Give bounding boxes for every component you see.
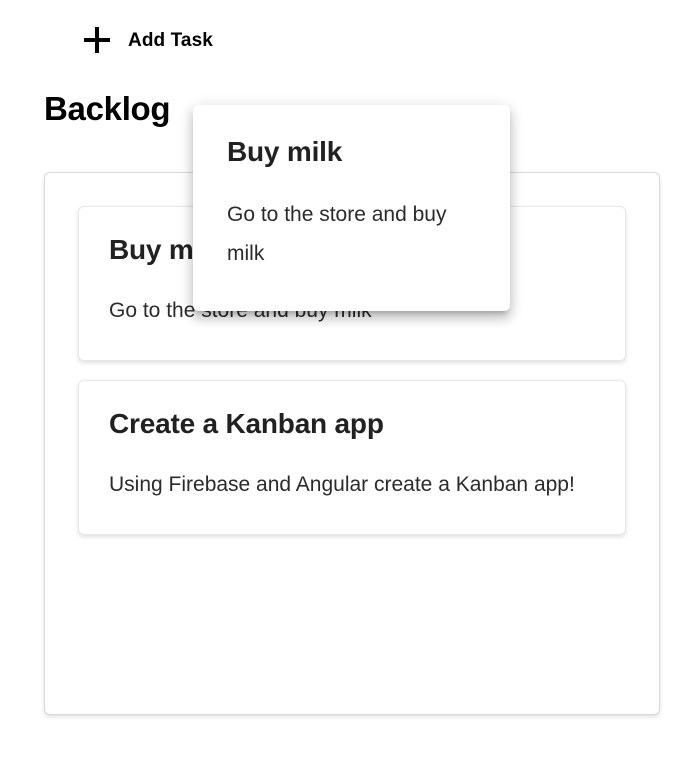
task-card-title: Create a Kanban app	[109, 407, 595, 441]
task-card[interactable]: Create a Kanban app Using Firebase and A…	[78, 380, 626, 535]
add-task-label: Add Task	[128, 31, 213, 50]
drag-preview-title: Buy milk	[227, 135, 476, 169]
task-drag-preview[interactable]: Buy milk Go to the store and buy milk	[193, 105, 510, 311]
add-task-button[interactable]: Add Task	[78, 20, 219, 60]
plus-icon	[84, 27, 110, 53]
task-card-description: Using Firebase and Angular create a Kanb…	[109, 465, 595, 504]
drag-preview-description: Go to the store and buy milk	[227, 195, 476, 273]
